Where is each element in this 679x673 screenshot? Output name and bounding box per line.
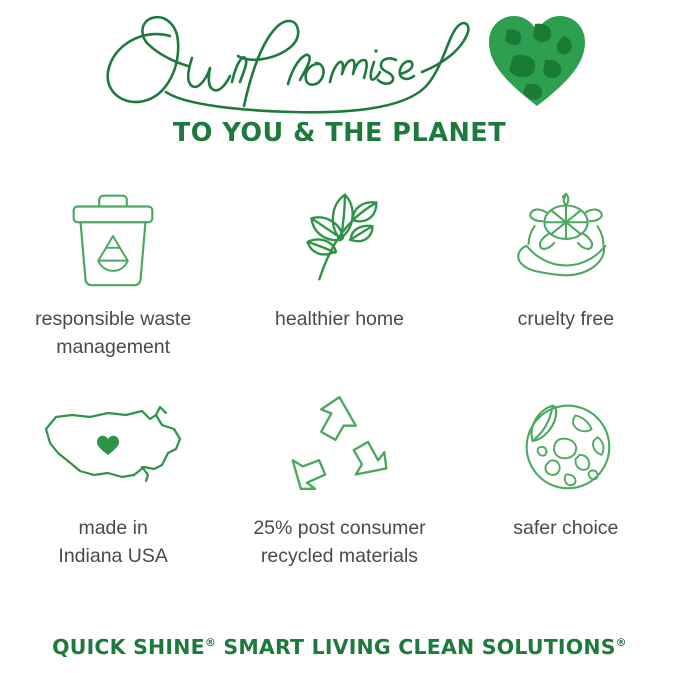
our-promise-script-title bbox=[92, 6, 492, 116]
registered-mark-icon: ® bbox=[205, 636, 216, 649]
promise-item-healthier-home: healthier home bbox=[226, 176, 452, 361]
turtle-in-hand-icon bbox=[507, 176, 625, 296]
promise-item-recycled-materials: 25% post consumer recycled materials bbox=[226, 385, 452, 570]
promise-caption: made in Indiana USA bbox=[58, 515, 168, 570]
leaf-branch-icon bbox=[280, 176, 398, 296]
our-promise-infographic: TO YOU & THE PLANET bbox=[0, 0, 679, 673]
promise-item-safer-choice: safer choice bbox=[453, 385, 679, 570]
promise-item-responsible-waste-management: responsible waste management bbox=[0, 176, 226, 361]
promise-item-cruelty-free: cruelty free bbox=[453, 176, 679, 361]
footer-brand-line: QUICK SHINE® SMART LIVING CLEAN SOLUTION… bbox=[0, 635, 679, 659]
promise-grid: responsible waste management h bbox=[0, 176, 679, 571]
globe-leaf-icon bbox=[507, 385, 625, 505]
promise-caption: safer choice bbox=[513, 515, 618, 543]
earth-heart-icon bbox=[483, 10, 591, 110]
registered-mark-icon: ® bbox=[616, 636, 627, 649]
usa-map-heart-icon bbox=[38, 385, 188, 505]
promise-caption: responsible waste management bbox=[35, 306, 191, 361]
recycling-bin-icon bbox=[54, 176, 172, 296]
promise-caption: cruelty free bbox=[518, 306, 614, 334]
promise-caption: 25% post consumer recycled materials bbox=[253, 515, 425, 570]
promise-caption: healthier home bbox=[275, 306, 404, 334]
promise-item-made-in-indiana-usa: made in Indiana USA bbox=[0, 385, 226, 570]
footer-tagline: SMART LIVING CLEAN SOLUTIONS bbox=[216, 635, 616, 659]
footer-brand-name: QUICK SHINE bbox=[52, 635, 205, 659]
header-subtitle: TO YOU & THE PLANET bbox=[0, 118, 679, 148]
header: TO YOU & THE PLANET bbox=[0, 0, 679, 170]
recycle-arrows-icon bbox=[277, 385, 402, 505]
